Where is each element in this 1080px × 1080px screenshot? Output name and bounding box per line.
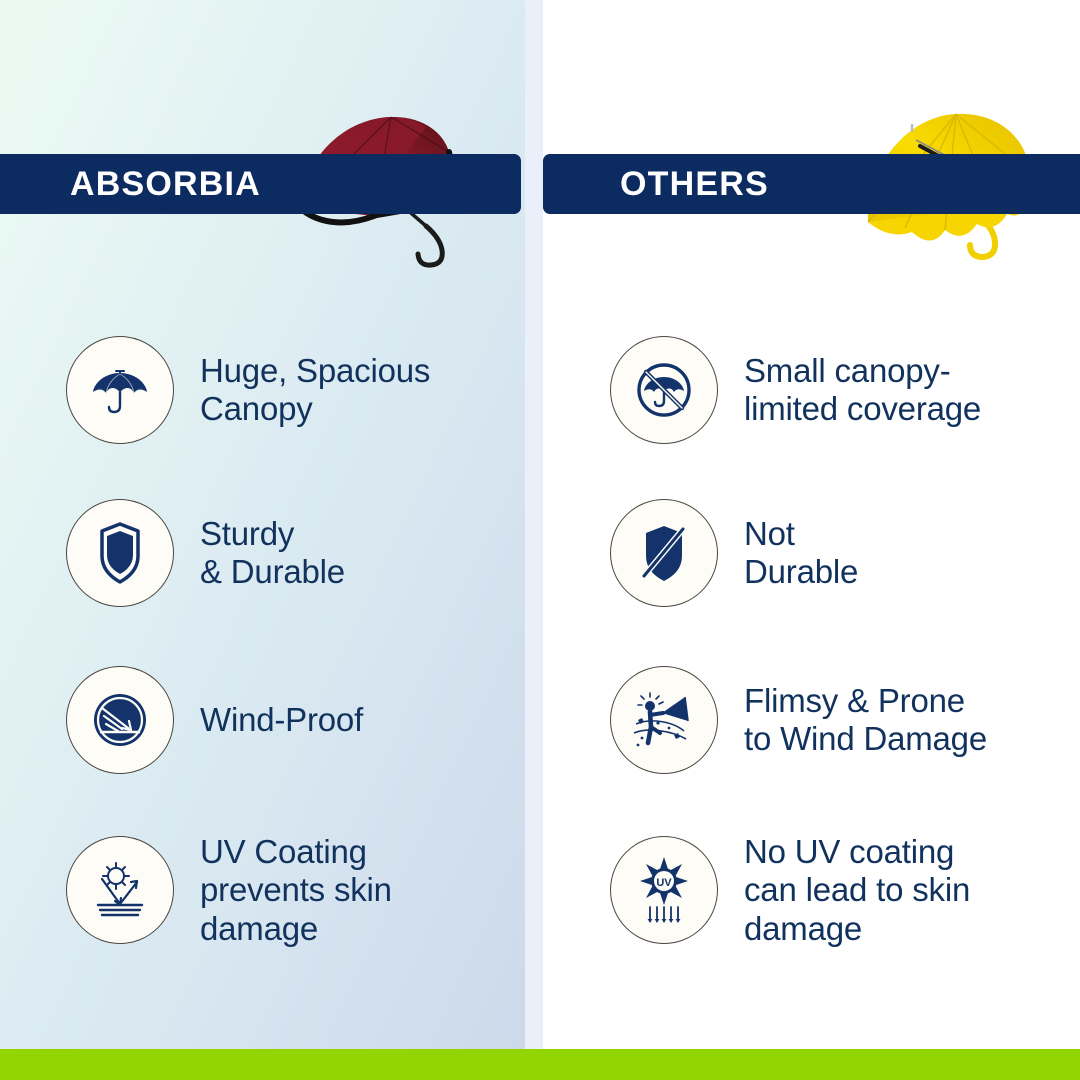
umbrella-icon (66, 336, 174, 444)
feature-label-right-1: Small canopy- limited coverage (744, 352, 981, 429)
comparison-infographic: ABSORBIA OTHERS Huge, Spacious Canopy (0, 0, 1080, 1080)
uv-exposure-icon: UV (610, 836, 718, 944)
feature-row-left-3: Wind-Proof (66, 666, 526, 774)
uv-protection-icon (66, 836, 174, 944)
shield-icon (66, 499, 174, 607)
feature-row-right-1: Small canopy- limited coverage (610, 336, 1080, 444)
feature-row-left-1: Huge, Spacious Canopy (66, 336, 526, 444)
feature-row-left-4: UV Coating prevents skin damage (66, 833, 526, 948)
broken-shield-icon (610, 499, 718, 607)
feature-row-right-2: Not Durable (610, 499, 1080, 607)
feature-label-left-3: Wind-Proof (200, 701, 363, 739)
feature-label-left-1: Huge, Spacious Canopy (200, 352, 430, 429)
feature-rows: Huge, Spacious Canopy Sturdy & Durable (0, 0, 1080, 1049)
feature-label-right-3: Flimsy & Prone to Wind Damage (744, 682, 987, 759)
feature-row-right-4: UV No UV coating can lead to skin damage (610, 833, 1080, 948)
no-umbrella-icon (610, 336, 718, 444)
wind-damage-icon (610, 666, 718, 774)
feature-row-right-3: Flimsy & Prone to Wind Damage (610, 666, 1080, 774)
svg-text:UV: UV (656, 877, 672, 889)
feature-label-right-2: Not Durable (744, 515, 858, 592)
feature-label-left-2: Sturdy & Durable (200, 515, 345, 592)
feature-label-right-4: No UV coating can lead to skin damage (744, 833, 970, 948)
feature-row-left-2: Sturdy & Durable (66, 499, 526, 607)
wind-proof-icon (66, 666, 174, 774)
feature-label-left-4: UV Coating prevents skin damage (200, 833, 392, 948)
bottom-green-bar (0, 1049, 1080, 1080)
